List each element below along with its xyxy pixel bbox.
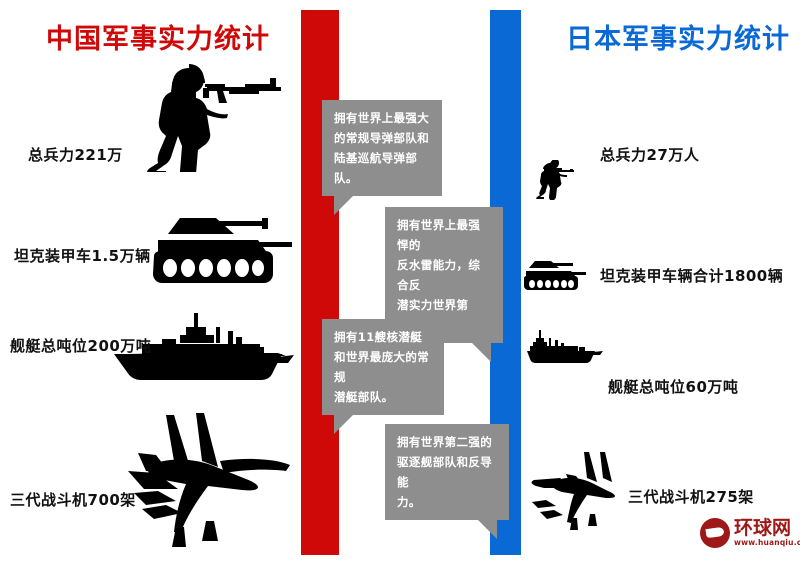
- callout-submarine-fleet: 拥有11艘核潜艇 和世界最庞大的常规 潜艇部队。: [322, 319, 444, 415]
- callout-tail: [334, 414, 354, 434]
- huanqiu-globe-icon: [700, 518, 730, 548]
- stat-label-left-troops: 总兵力221万: [28, 144, 123, 165]
- callout-tail: [334, 195, 354, 215]
- stat-label-left-tanks: 坦克装甲车1.5万辆: [14, 245, 151, 266]
- callout-line: 和世界最庞大的常规: [334, 347, 433, 387]
- right-panel-title: 日本军事实力统计: [566, 17, 790, 56]
- soldier-icon: [534, 160, 576, 200]
- red-column-bar: [301, 10, 339, 555]
- callout-line: 拥有世界第二强的: [397, 432, 498, 452]
- callout-destroyer-fleet: 拥有世界第二强的 驱逐舰部队和反导能 力。: [385, 424, 509, 520]
- warship-icon: [527, 330, 603, 366]
- callout-line: 驱逐舰部队和反导能: [397, 452, 498, 492]
- fighter-jet-icon: [528, 448, 618, 532]
- stat-label-right-tanks: 坦克装甲车辆合计1800辆: [600, 265, 783, 286]
- stat-label-right-aircraft: 三代战斗机275架: [628, 486, 754, 507]
- logo-url: www.huanqiu.com: [734, 538, 800, 548]
- callout-tail: [471, 342, 491, 362]
- callout-line: 的常规导弹部队和: [334, 128, 431, 148]
- left-panel-title: 中国军事实力统计: [46, 17, 270, 56]
- callout-line: 反水雷能力，综合反: [397, 255, 492, 295]
- callout-line: 拥有世界上最强悍的: [397, 215, 492, 255]
- logo-text-block: 环球网 www.huanqiu.com: [734, 519, 800, 548]
- callout-line: 拥有11艘核潜艇: [334, 327, 433, 347]
- soldier-icon: [145, 62, 285, 172]
- callout-line: 拥有世界上最强大: [334, 108, 431, 128]
- callout-missile-forces: 拥有世界上最强大 的常规导弹部队和 陆基巡航导弹部队。: [322, 100, 442, 196]
- military-comparison-infographic: 中国军事实力统计 日本军事实力统计: [0, 0, 800, 567]
- huanqiu-logo[interactable]: 环球网 www.huanqiu.com: [700, 518, 800, 548]
- callout-line: 陆基巡航导弹部队。: [334, 148, 431, 188]
- callout-tail: [477, 519, 497, 539]
- logo-name: 环球网: [734, 519, 800, 538]
- stat-label-left-navy: 舰艇总吨位200万吨: [10, 335, 151, 356]
- callout-line: 潜艇部队。: [334, 387, 433, 407]
- tank-icon: [523, 258, 589, 296]
- fighter-jet-icon: [120, 405, 304, 550]
- tank-icon: [152, 210, 300, 295]
- stat-label-right-navy: 舰艇总吨位60万吨: [608, 376, 738, 397]
- stat-label-left-aircraft: 三代战斗机700架: [10, 489, 136, 510]
- callout-line: 力。: [397, 492, 498, 512]
- stat-label-right-troops: 总兵力27万人: [600, 144, 699, 165]
